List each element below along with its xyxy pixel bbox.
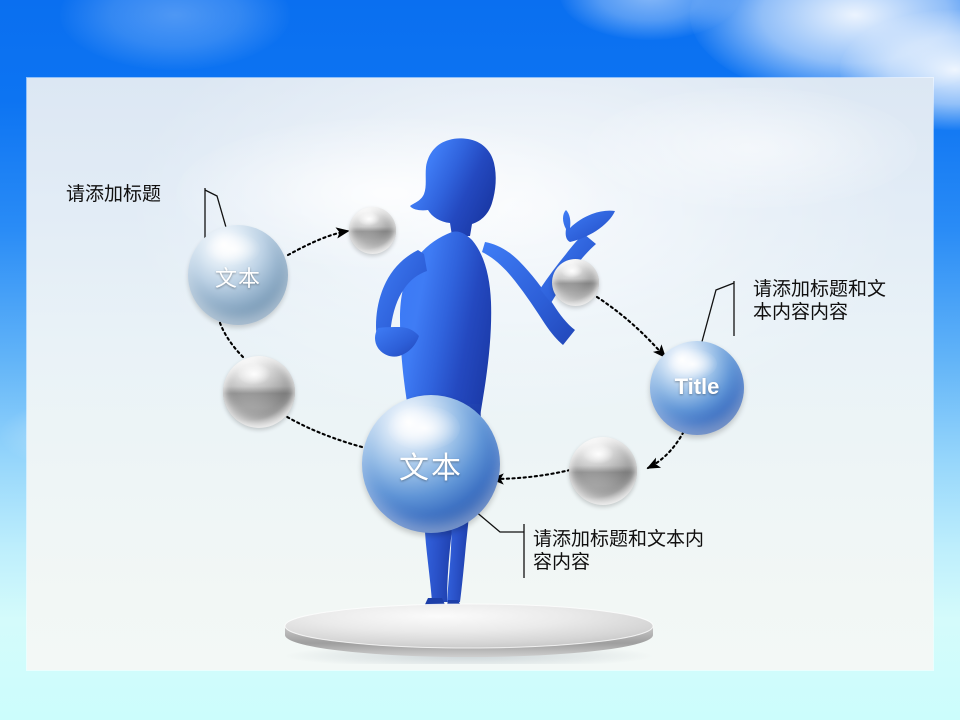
node-silver-4[interactable] xyxy=(569,437,637,505)
callout-bottom: 请添加标题和文本内 容内容 xyxy=(533,528,783,574)
content-panel xyxy=(27,78,933,670)
cloud-decoration xyxy=(60,0,290,70)
cloud-decoration xyxy=(587,88,917,208)
node-text-center[interactable]: 文本 xyxy=(362,395,500,533)
node-silver-3[interactable] xyxy=(552,259,599,306)
callout-left: 请添加标题 xyxy=(66,183,161,206)
node-title-right[interactable]: Title xyxy=(650,341,744,435)
node-label: Title xyxy=(650,374,744,400)
cloud-decoration xyxy=(560,0,740,40)
node-label: 文本 xyxy=(188,261,288,293)
pedestal-disc xyxy=(283,602,655,664)
node-text-top-left[interactable]: 文本 xyxy=(188,225,288,325)
slide-canvas: 文本 Title 文本 请添加标题 请添加标题和文 本内容内容 请添加标题和文本… xyxy=(0,0,960,720)
node-silver-1[interactable] xyxy=(349,207,396,254)
callout-right: 请添加标题和文 本内容内容 xyxy=(753,278,943,324)
node-label: 文本 xyxy=(362,443,500,487)
node-silver-2[interactable] xyxy=(223,356,295,428)
